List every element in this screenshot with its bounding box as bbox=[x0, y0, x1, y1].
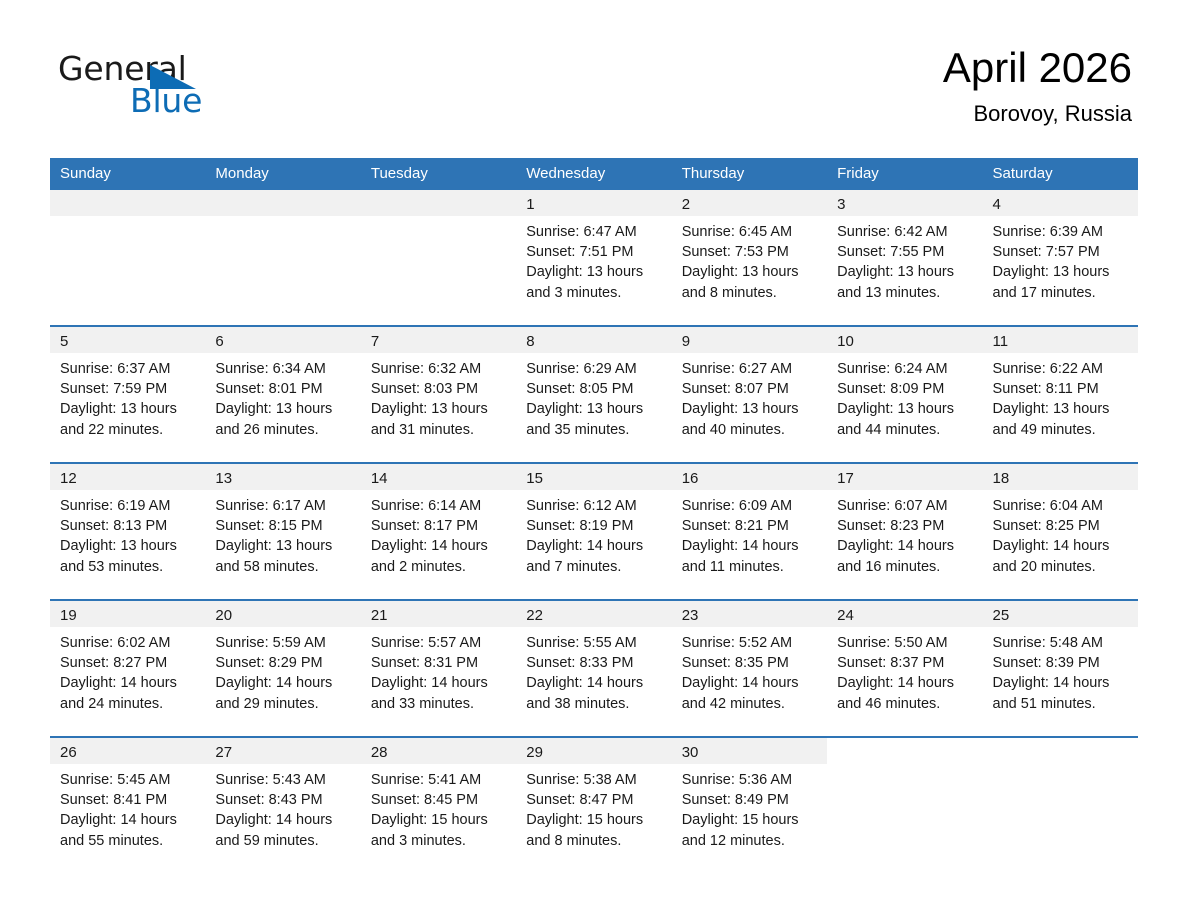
calendar-week-row: 1Sunrise: 6:47 AMSunset: 7:51 PMDaylight… bbox=[50, 190, 1138, 326]
sunrise-text: Sunrise: 5:55 AM bbox=[526, 633, 663, 653]
calendar-day-cell bbox=[827, 737, 982, 873]
calendar-day-cell[interactable]: 19Sunrise: 6:02 AMSunset: 8:27 PMDayligh… bbox=[50, 600, 205, 737]
day-cell-inner: 19Sunrise: 6:02 AMSunset: 8:27 PMDayligh… bbox=[50, 601, 205, 736]
calendar-week-row: 26Sunrise: 5:45 AMSunset: 8:41 PMDayligh… bbox=[50, 737, 1138, 873]
sunrise-text: Sunrise: 5:50 AM bbox=[837, 633, 974, 653]
sunrise-text: Sunrise: 5:43 AM bbox=[215, 770, 352, 790]
day-sun-info: Sunrise: 5:43 AMSunset: 8:43 PMDaylight:… bbox=[205, 764, 360, 851]
sunset-text: Sunset: 8:25 PM bbox=[993, 516, 1130, 536]
sunrise-text: Sunrise: 5:38 AM bbox=[526, 770, 663, 790]
daylight-text: Daylight: 13 hours and 22 minutes. bbox=[60, 399, 197, 439]
day-cell-inner: 6Sunrise: 6:34 AMSunset: 8:01 PMDaylight… bbox=[205, 327, 360, 462]
sunrise-text: Sunrise: 6:22 AM bbox=[993, 359, 1130, 379]
daylight-text: Daylight: 13 hours and 26 minutes. bbox=[215, 399, 352, 439]
day-cell-inner: 14Sunrise: 6:14 AMSunset: 8:17 PMDayligh… bbox=[361, 464, 516, 599]
sunset-text: Sunset: 8:05 PM bbox=[526, 379, 663, 399]
day-sun-info: Sunrise: 5:50 AMSunset: 8:37 PMDaylight:… bbox=[827, 627, 982, 714]
day-sun-info: Sunrise: 6:04 AMSunset: 8:25 PMDaylight:… bbox=[983, 490, 1138, 577]
sunset-text: Sunset: 8:47 PM bbox=[526, 790, 663, 810]
daylight-text: Daylight: 14 hours and 42 minutes. bbox=[682, 673, 819, 713]
calendar-header-row: Sunday Monday Tuesday Wednesday Thursday… bbox=[50, 158, 1138, 190]
calendar-day-cell[interactable]: 23Sunrise: 5:52 AMSunset: 8:35 PMDayligh… bbox=[672, 600, 827, 737]
sunset-text: Sunset: 8:21 PM bbox=[682, 516, 819, 536]
calendar-day-cell[interactable]: 12Sunrise: 6:19 AMSunset: 8:13 PMDayligh… bbox=[50, 463, 205, 600]
day-cell-inner: 24Sunrise: 5:50 AMSunset: 8:37 PMDayligh… bbox=[827, 601, 982, 736]
calendar-day-cell[interactable]: 16Sunrise: 6:09 AMSunset: 8:21 PMDayligh… bbox=[672, 463, 827, 600]
calendar-day-cell bbox=[983, 737, 1138, 873]
day-number: 4 bbox=[983, 190, 1138, 216]
logo-text-blue: Blue bbox=[130, 82, 202, 120]
sunset-text: Sunset: 8:31 PM bbox=[371, 653, 508, 673]
daylight-text: Daylight: 13 hours and 35 minutes. bbox=[526, 399, 663, 439]
sunset-text: Sunset: 8:23 PM bbox=[837, 516, 974, 536]
sunrise-text: Sunrise: 6:12 AM bbox=[526, 496, 663, 516]
location-subtitle: Borovoy, Russia bbox=[943, 101, 1132, 127]
day-cell-inner: 21Sunrise: 5:57 AMSunset: 8:31 PMDayligh… bbox=[361, 601, 516, 736]
day-cell-inner: 8Sunrise: 6:29 AMSunset: 8:05 PMDaylight… bbox=[516, 327, 671, 462]
calendar-day-cell[interactable]: 20Sunrise: 5:59 AMSunset: 8:29 PMDayligh… bbox=[205, 600, 360, 737]
sunrise-text: Sunrise: 5:57 AM bbox=[371, 633, 508, 653]
sunset-text: Sunset: 8:33 PM bbox=[526, 653, 663, 673]
day-number: 20 bbox=[205, 601, 360, 627]
day-sun-info: Sunrise: 6:02 AMSunset: 8:27 PMDaylight:… bbox=[50, 627, 205, 714]
calendar-day-cell[interactable]: 17Sunrise: 6:07 AMSunset: 8:23 PMDayligh… bbox=[827, 463, 982, 600]
sunrise-text: Sunrise: 6:04 AM bbox=[993, 496, 1130, 516]
daylight-text: Daylight: 14 hours and 59 minutes. bbox=[215, 810, 352, 850]
calendar-week-row: 5Sunrise: 6:37 AMSunset: 7:59 PMDaylight… bbox=[50, 326, 1138, 463]
day-number: 26 bbox=[50, 738, 205, 764]
sunrise-text: Sunrise: 6:27 AM bbox=[682, 359, 819, 379]
sunset-text: Sunset: 8:03 PM bbox=[371, 379, 508, 399]
sunset-text: Sunset: 7:51 PM bbox=[526, 242, 663, 262]
day-cell-inner: 30Sunrise: 5:36 AMSunset: 8:49 PMDayligh… bbox=[672, 738, 827, 873]
day-cell-inner: 29Sunrise: 5:38 AMSunset: 8:47 PMDayligh… bbox=[516, 738, 671, 873]
sunrise-sunset-calendar-table: Sunday Monday Tuesday Wednesday Thursday… bbox=[50, 158, 1138, 873]
calendar-day-cell[interactable]: 11Sunrise: 6:22 AMSunset: 8:11 PMDayligh… bbox=[983, 326, 1138, 463]
calendar-day-cell[interactable]: 29Sunrise: 5:38 AMSunset: 8:47 PMDayligh… bbox=[516, 737, 671, 873]
column-header-friday: Friday bbox=[827, 158, 982, 190]
day-number bbox=[361, 190, 516, 216]
day-number bbox=[983, 738, 1138, 764]
calendar-day-cell[interactable]: 22Sunrise: 5:55 AMSunset: 8:33 PMDayligh… bbox=[516, 600, 671, 737]
daylight-text: Daylight: 13 hours and 31 minutes. bbox=[371, 399, 508, 439]
calendar-day-cell[interactable]: 15Sunrise: 6:12 AMSunset: 8:19 PMDayligh… bbox=[516, 463, 671, 600]
sunrise-text: Sunrise: 6:14 AM bbox=[371, 496, 508, 516]
day-cell-inner: 4Sunrise: 6:39 AMSunset: 7:57 PMDaylight… bbox=[983, 190, 1138, 325]
sunrise-text: Sunrise: 6:02 AM bbox=[60, 633, 197, 653]
day-number: 5 bbox=[50, 327, 205, 353]
daylight-text: Daylight: 14 hours and 2 minutes. bbox=[371, 536, 508, 576]
sunset-text: Sunset: 8:11 PM bbox=[993, 379, 1130, 399]
day-sun-info: Sunrise: 6:37 AMSunset: 7:59 PMDaylight:… bbox=[50, 353, 205, 440]
calendar-day-cell[interactable]: 26Sunrise: 5:45 AMSunset: 8:41 PMDayligh… bbox=[50, 737, 205, 873]
day-number: 3 bbox=[827, 190, 982, 216]
sunset-text: Sunset: 8:39 PM bbox=[993, 653, 1130, 673]
daylight-text: Daylight: 15 hours and 3 minutes. bbox=[371, 810, 508, 850]
day-cell-inner bbox=[361, 190, 516, 325]
calendar-day-cell[interactable]: 6Sunrise: 6:34 AMSunset: 8:01 PMDaylight… bbox=[205, 326, 360, 463]
calendar-body: 1Sunrise: 6:47 AMSunset: 7:51 PMDaylight… bbox=[50, 190, 1138, 873]
sunrise-text: Sunrise: 6:09 AM bbox=[682, 496, 819, 516]
daylight-text: Daylight: 14 hours and 11 minutes. bbox=[682, 536, 819, 576]
day-number: 25 bbox=[983, 601, 1138, 627]
day-cell-inner: 17Sunrise: 6:07 AMSunset: 8:23 PMDayligh… bbox=[827, 464, 982, 599]
day-cell-inner: 27Sunrise: 5:43 AMSunset: 8:43 PMDayligh… bbox=[205, 738, 360, 873]
sunrise-text: Sunrise: 5:41 AM bbox=[371, 770, 508, 790]
day-cell-inner: 3Sunrise: 6:42 AMSunset: 7:55 PMDaylight… bbox=[827, 190, 982, 325]
day-number: 18 bbox=[983, 464, 1138, 490]
calendar-page: General Blue April 2026 Borovoy, Russia … bbox=[0, 0, 1188, 918]
day-sun-info: Sunrise: 5:36 AMSunset: 8:49 PMDaylight:… bbox=[672, 764, 827, 851]
calendar-day-cell[interactable]: 28Sunrise: 5:41 AMSunset: 8:45 PMDayligh… bbox=[361, 737, 516, 873]
day-cell-inner: 23Sunrise: 5:52 AMSunset: 8:35 PMDayligh… bbox=[672, 601, 827, 736]
sunset-text: Sunset: 8:29 PM bbox=[215, 653, 352, 673]
day-cell-inner: 1Sunrise: 6:47 AMSunset: 7:51 PMDaylight… bbox=[516, 190, 671, 325]
calendar-day-cell[interactable]: 7Sunrise: 6:32 AMSunset: 8:03 PMDaylight… bbox=[361, 326, 516, 463]
daylight-text: Daylight: 13 hours and 53 minutes. bbox=[60, 536, 197, 576]
sunset-text: Sunset: 8:35 PM bbox=[682, 653, 819, 673]
column-header-tuesday: Tuesday bbox=[361, 158, 516, 190]
day-number: 22 bbox=[516, 601, 671, 627]
day-sun-info: Sunrise: 5:48 AMSunset: 8:39 PMDaylight:… bbox=[983, 627, 1138, 714]
day-number bbox=[50, 190, 205, 216]
day-sun-info: Sunrise: 6:07 AMSunset: 8:23 PMDaylight:… bbox=[827, 490, 982, 577]
daylight-text: Daylight: 13 hours and 40 minutes. bbox=[682, 399, 819, 439]
day-number: 6 bbox=[205, 327, 360, 353]
daylight-text: Daylight: 13 hours and 3 minutes. bbox=[526, 262, 663, 302]
sunrise-text: Sunrise: 6:29 AM bbox=[526, 359, 663, 379]
daylight-text: Daylight: 14 hours and 55 minutes. bbox=[60, 810, 197, 850]
sunset-text: Sunset: 7:59 PM bbox=[60, 379, 197, 399]
calendar-day-cell[interactable]: 9Sunrise: 6:27 AMSunset: 8:07 PMDaylight… bbox=[672, 326, 827, 463]
day-sun-info: Sunrise: 6:09 AMSunset: 8:21 PMDaylight:… bbox=[672, 490, 827, 577]
day-cell-inner: 10Sunrise: 6:24 AMSunset: 8:09 PMDayligh… bbox=[827, 327, 982, 462]
day-number: 23 bbox=[672, 601, 827, 627]
day-sun-info: Sunrise: 6:32 AMSunset: 8:03 PMDaylight:… bbox=[361, 353, 516, 440]
day-number bbox=[827, 738, 982, 764]
sunset-text: Sunset: 8:37 PM bbox=[837, 653, 974, 673]
day-cell-inner: 2Sunrise: 6:45 AMSunset: 7:53 PMDaylight… bbox=[672, 190, 827, 325]
day-sun-info: Sunrise: 5:55 AMSunset: 8:33 PMDaylight:… bbox=[516, 627, 671, 714]
day-number: 12 bbox=[50, 464, 205, 490]
day-sun-info: Sunrise: 5:41 AMSunset: 8:45 PMDaylight:… bbox=[361, 764, 516, 851]
day-number: 28 bbox=[361, 738, 516, 764]
day-cell-inner: 28Sunrise: 5:41 AMSunset: 8:45 PMDayligh… bbox=[361, 738, 516, 873]
day-sun-info: Sunrise: 6:39 AMSunset: 7:57 PMDaylight:… bbox=[983, 216, 1138, 303]
calendar-day-cell[interactable]: 10Sunrise: 6:24 AMSunset: 8:09 PMDayligh… bbox=[827, 326, 982, 463]
daylight-text: Daylight: 14 hours and 7 minutes. bbox=[526, 536, 663, 576]
day-number: 14 bbox=[361, 464, 516, 490]
sunrise-text: Sunrise: 6:34 AM bbox=[215, 359, 352, 379]
day-number: 11 bbox=[983, 327, 1138, 353]
sunrise-text: Sunrise: 5:36 AM bbox=[682, 770, 819, 790]
day-sun-info: Sunrise: 5:52 AMSunset: 8:35 PMDaylight:… bbox=[672, 627, 827, 714]
daylight-text: Daylight: 14 hours and 29 minutes. bbox=[215, 673, 352, 713]
title-block: April 2026 Borovoy, Russia bbox=[943, 42, 1132, 127]
calendar-day-cell bbox=[50, 190, 205, 326]
column-header-saturday: Saturday bbox=[983, 158, 1138, 190]
day-sun-info: Sunrise: 5:57 AMSunset: 8:31 PMDaylight:… bbox=[361, 627, 516, 714]
daylight-text: Daylight: 14 hours and 46 minutes. bbox=[837, 673, 974, 713]
day-sun-info: Sunrise: 6:34 AMSunset: 8:01 PMDaylight:… bbox=[205, 353, 360, 440]
day-sun-info: Sunrise: 6:19 AMSunset: 8:13 PMDaylight:… bbox=[50, 490, 205, 577]
day-number: 8 bbox=[516, 327, 671, 353]
day-sun-info: Sunrise: 5:45 AMSunset: 8:41 PMDaylight:… bbox=[50, 764, 205, 851]
sunset-text: Sunset: 8:01 PM bbox=[215, 379, 352, 399]
day-sun-info: Sunrise: 6:47 AMSunset: 7:51 PMDaylight:… bbox=[516, 216, 671, 303]
sunset-text: Sunset: 7:55 PM bbox=[837, 242, 974, 262]
day-sun-info: Sunrise: 6:17 AMSunset: 8:15 PMDaylight:… bbox=[205, 490, 360, 577]
daylight-text: Daylight: 13 hours and 17 minutes. bbox=[993, 262, 1130, 302]
day-sun-info: Sunrise: 6:27 AMSunset: 8:07 PMDaylight:… bbox=[672, 353, 827, 440]
daylight-text: Daylight: 14 hours and 20 minutes. bbox=[993, 536, 1130, 576]
daylight-text: Daylight: 13 hours and 44 minutes. bbox=[837, 399, 974, 439]
sunrise-text: Sunrise: 6:37 AM bbox=[60, 359, 197, 379]
sunset-text: Sunset: 8:09 PM bbox=[837, 379, 974, 399]
sunrise-text: Sunrise: 6:42 AM bbox=[837, 222, 974, 242]
daylight-text: Daylight: 14 hours and 24 minutes. bbox=[60, 673, 197, 713]
daylight-text: Daylight: 14 hours and 33 minutes. bbox=[371, 673, 508, 713]
day-cell-inner: 5Sunrise: 6:37 AMSunset: 7:59 PMDaylight… bbox=[50, 327, 205, 462]
sunset-text: Sunset: 8:19 PM bbox=[526, 516, 663, 536]
day-sun-info: Sunrise: 6:12 AMSunset: 8:19 PMDaylight:… bbox=[516, 490, 671, 577]
sunrise-text: Sunrise: 6:39 AM bbox=[993, 222, 1130, 242]
daylight-text: Daylight: 13 hours and 8 minutes. bbox=[682, 262, 819, 302]
day-number: 24 bbox=[827, 601, 982, 627]
day-number: 10 bbox=[827, 327, 982, 353]
column-header-thursday: Thursday bbox=[672, 158, 827, 190]
sunset-text: Sunset: 8:07 PM bbox=[682, 379, 819, 399]
day-number: 29 bbox=[516, 738, 671, 764]
day-number bbox=[205, 190, 360, 216]
day-number: 27 bbox=[205, 738, 360, 764]
calendar-day-cell bbox=[361, 190, 516, 326]
day-cell-inner bbox=[50, 190, 205, 325]
day-sun-info: Sunrise: 6:45 AMSunset: 7:53 PMDaylight:… bbox=[672, 216, 827, 303]
day-number: 9 bbox=[672, 327, 827, 353]
calendar-day-cell[interactable]: 2Sunrise: 6:45 AMSunset: 7:53 PMDaylight… bbox=[672, 190, 827, 326]
sunrise-text: Sunrise: 6:17 AM bbox=[215, 496, 352, 516]
day-cell-inner: 15Sunrise: 6:12 AMSunset: 8:19 PMDayligh… bbox=[516, 464, 671, 599]
day-number: 19 bbox=[50, 601, 205, 627]
calendar-day-cell[interactable]: 1Sunrise: 6:47 AMSunset: 7:51 PMDaylight… bbox=[516, 190, 671, 326]
sunset-text: Sunset: 8:15 PM bbox=[215, 516, 352, 536]
sunset-text: Sunset: 8:17 PM bbox=[371, 516, 508, 536]
daylight-text: Daylight: 14 hours and 38 minutes. bbox=[526, 673, 663, 713]
sunrise-text: Sunrise: 6:45 AM bbox=[682, 222, 819, 242]
sunrise-text: Sunrise: 6:24 AM bbox=[837, 359, 974, 379]
calendar-day-cell[interactable]: 3Sunrise: 6:42 AMSunset: 7:55 PMDaylight… bbox=[827, 190, 982, 326]
sunrise-text: Sunrise: 5:59 AM bbox=[215, 633, 352, 653]
day-cell-inner: 20Sunrise: 5:59 AMSunset: 8:29 PMDayligh… bbox=[205, 601, 360, 736]
day-cell-inner: 13Sunrise: 6:17 AMSunset: 8:15 PMDayligh… bbox=[205, 464, 360, 599]
calendar-day-cell[interactable]: 18Sunrise: 6:04 AMSunset: 8:25 PMDayligh… bbox=[983, 463, 1138, 600]
day-cell-inner: 9Sunrise: 6:27 AMSunset: 8:07 PMDaylight… bbox=[672, 327, 827, 462]
day-cell-inner: 22Sunrise: 5:55 AMSunset: 8:33 PMDayligh… bbox=[516, 601, 671, 736]
sunset-text: Sunset: 8:49 PM bbox=[682, 790, 819, 810]
day-number: 16 bbox=[672, 464, 827, 490]
page-title: April 2026 bbox=[943, 42, 1132, 94]
day-number: 13 bbox=[205, 464, 360, 490]
sunrise-text: Sunrise: 6:07 AM bbox=[837, 496, 974, 516]
sunset-text: Sunset: 8:43 PM bbox=[215, 790, 352, 810]
daylight-text: Daylight: 13 hours and 13 minutes. bbox=[837, 262, 974, 302]
day-number: 15 bbox=[516, 464, 671, 490]
daylight-text: Daylight: 15 hours and 8 minutes. bbox=[526, 810, 663, 850]
masthead: General Blue April 2026 Borovoy, Russia bbox=[0, 0, 1188, 158]
daylight-text: Daylight: 14 hours and 51 minutes. bbox=[993, 673, 1130, 713]
day-cell-inner bbox=[205, 190, 360, 325]
day-cell-inner: 7Sunrise: 6:32 AMSunset: 8:03 PMDaylight… bbox=[361, 327, 516, 462]
calendar-day-cell[interactable]: 13Sunrise: 6:17 AMSunset: 8:15 PMDayligh… bbox=[205, 463, 360, 600]
calendar-week-row: 19Sunrise: 6:02 AMSunset: 8:27 PMDayligh… bbox=[50, 600, 1138, 737]
day-sun-info: Sunrise: 5:59 AMSunset: 8:29 PMDaylight:… bbox=[205, 627, 360, 714]
sunrise-text: Sunrise: 5:52 AM bbox=[682, 633, 819, 653]
column-header-wednesday: Wednesday bbox=[516, 158, 671, 190]
calendar-day-cell[interactable]: 4Sunrise: 6:39 AMSunset: 7:57 PMDaylight… bbox=[983, 190, 1138, 326]
day-cell-inner: 11Sunrise: 6:22 AMSunset: 8:11 PMDayligh… bbox=[983, 327, 1138, 462]
day-number: 7 bbox=[361, 327, 516, 353]
calendar-day-cell[interactable]: 27Sunrise: 5:43 AMSunset: 8:43 PMDayligh… bbox=[205, 737, 360, 873]
day-sun-info: Sunrise: 6:24 AMSunset: 8:09 PMDaylight:… bbox=[827, 353, 982, 440]
daylight-text: Daylight: 14 hours and 16 minutes. bbox=[837, 536, 974, 576]
sunrise-text: Sunrise: 6:19 AM bbox=[60, 496, 197, 516]
sunrise-text: Sunrise: 5:48 AM bbox=[993, 633, 1130, 653]
day-sun-info: Sunrise: 5:38 AMSunset: 8:47 PMDaylight:… bbox=[516, 764, 671, 851]
sunrise-text: Sunrise: 6:47 AM bbox=[526, 222, 663, 242]
calendar-day-cell[interactable]: 24Sunrise: 5:50 AMSunset: 8:37 PMDayligh… bbox=[827, 600, 982, 737]
day-sun-info: Sunrise: 6:14 AMSunset: 8:17 PMDaylight:… bbox=[361, 490, 516, 577]
calendar-week-row: 12Sunrise: 6:19 AMSunset: 8:13 PMDayligh… bbox=[50, 463, 1138, 600]
day-sun-info: Sunrise: 6:29 AMSunset: 8:05 PMDaylight:… bbox=[516, 353, 671, 440]
calendar-day-cell[interactable]: 30Sunrise: 5:36 AMSunset: 8:49 PMDayligh… bbox=[672, 737, 827, 873]
day-cell-inner: 25Sunrise: 5:48 AMSunset: 8:39 PMDayligh… bbox=[983, 601, 1138, 736]
day-cell-inner: 16Sunrise: 6:09 AMSunset: 8:21 PMDayligh… bbox=[672, 464, 827, 599]
calendar-day-cell bbox=[205, 190, 360, 326]
sunset-text: Sunset: 8:41 PM bbox=[60, 790, 197, 810]
day-cell-inner: 12Sunrise: 6:19 AMSunset: 8:13 PMDayligh… bbox=[50, 464, 205, 599]
daylight-text: Daylight: 13 hours and 58 minutes. bbox=[215, 536, 352, 576]
day-cell-inner bbox=[827, 738, 982, 873]
sunset-text: Sunset: 7:53 PM bbox=[682, 242, 819, 262]
day-number: 17 bbox=[827, 464, 982, 490]
calendar-day-cell[interactable]: 5Sunrise: 6:37 AMSunset: 7:59 PMDaylight… bbox=[50, 326, 205, 463]
day-number: 1 bbox=[516, 190, 671, 216]
day-number: 30 bbox=[672, 738, 827, 764]
daylight-text: Daylight: 15 hours and 12 minutes. bbox=[682, 810, 819, 850]
calendar-day-cell[interactable]: 14Sunrise: 6:14 AMSunset: 8:17 PMDayligh… bbox=[361, 463, 516, 600]
calendar-day-cell[interactable]: 25Sunrise: 5:48 AMSunset: 8:39 PMDayligh… bbox=[983, 600, 1138, 737]
day-cell-inner: 26Sunrise: 5:45 AMSunset: 8:41 PMDayligh… bbox=[50, 738, 205, 873]
daylight-text: Daylight: 13 hours and 49 minutes. bbox=[993, 399, 1130, 439]
day-cell-inner: 18Sunrise: 6:04 AMSunset: 8:25 PMDayligh… bbox=[983, 464, 1138, 599]
sunrise-text: Sunrise: 5:45 AM bbox=[60, 770, 197, 790]
sunset-text: Sunset: 8:13 PM bbox=[60, 516, 197, 536]
column-header-monday: Monday bbox=[205, 158, 360, 190]
sunset-text: Sunset: 8:45 PM bbox=[371, 790, 508, 810]
calendar-day-cell[interactable]: 21Sunrise: 5:57 AMSunset: 8:31 PMDayligh… bbox=[361, 600, 516, 737]
sunrise-text: Sunrise: 6:32 AM bbox=[371, 359, 508, 379]
calendar-day-cell[interactable]: 8Sunrise: 6:29 AMSunset: 8:05 PMDaylight… bbox=[516, 326, 671, 463]
day-sun-info: Sunrise: 6:42 AMSunset: 7:55 PMDaylight:… bbox=[827, 216, 982, 303]
day-number: 21 bbox=[361, 601, 516, 627]
day-sun-info: Sunrise: 6:22 AMSunset: 8:11 PMDaylight:… bbox=[983, 353, 1138, 440]
day-cell-inner bbox=[983, 738, 1138, 873]
general-blue-logo[interactable]: General Blue bbox=[58, 50, 258, 124]
day-number: 2 bbox=[672, 190, 827, 216]
sunset-text: Sunset: 7:57 PM bbox=[993, 242, 1130, 262]
column-header-sunday: Sunday bbox=[50, 158, 205, 190]
sunset-text: Sunset: 8:27 PM bbox=[60, 653, 197, 673]
